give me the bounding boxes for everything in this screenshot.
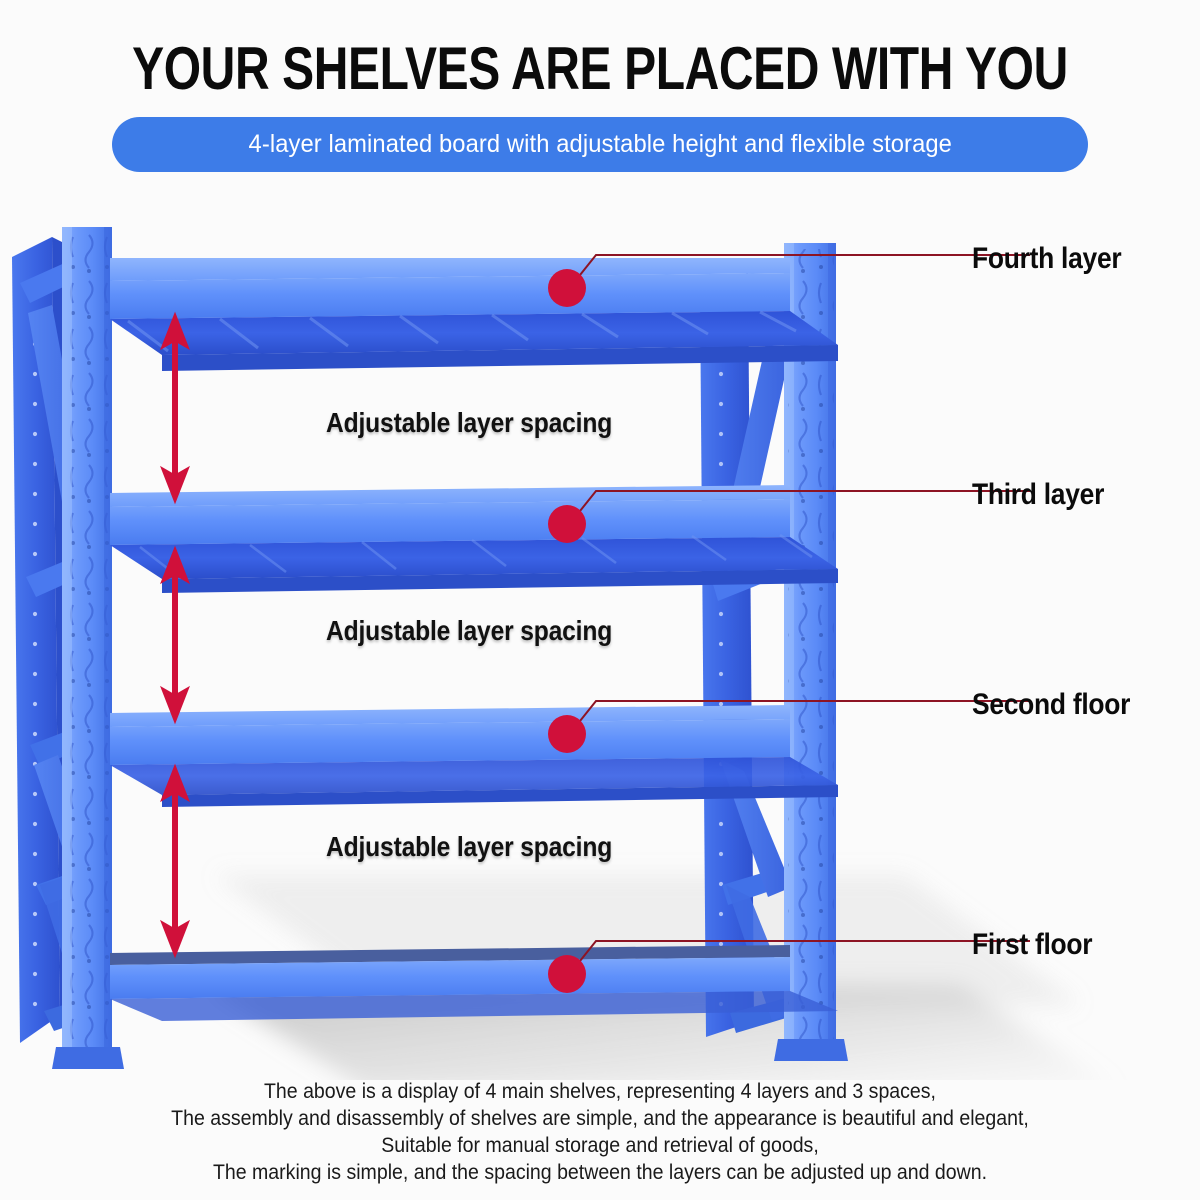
spacing-arrow-2: [161, 547, 189, 723]
callout-label-second-floor: Second floor: [972, 688, 1130, 722]
shelf-beam-first: [110, 945, 838, 1021]
shelf-beam-second: [110, 705, 838, 807]
header: YOUR SHELVES ARE PLACED WITH YOU 4-layer…: [0, 0, 1200, 185]
product-illustration-stage: Fourth layer Third layer Second floor Fi…: [0, 185, 1200, 1080]
subtitle-text: 4-layer laminated board with adjustable …: [248, 130, 951, 159]
subtitle-banner: 4-layer laminated board with adjustable …: [112, 117, 1088, 172]
caption-line-1: The above is a display of 4 main shelves…: [42, 1078, 1158, 1105]
spacing-arrow-3: [161, 765, 189, 957]
caption-line-4: The marking is simple, and the spacing b…: [42, 1159, 1158, 1186]
caption-line-3: Suitable for manual storage and retrieva…: [42, 1132, 1158, 1159]
spacing-label-1: Adjustable layer spacing: [326, 407, 612, 439]
callout-dot-third-layer: [548, 505, 586, 543]
caption-block: The above is a display of 4 main shelves…: [42, 1078, 1158, 1186]
spacing-arrow-1: [161, 313, 189, 503]
shelf-beam-third: [110, 485, 838, 593]
callout-label-third-layer: Third layer: [972, 478, 1104, 512]
spacing-arrows: [161, 313, 189, 957]
callout-dot-second-floor: [548, 715, 586, 753]
spacing-label-3: Adjustable layer spacing: [326, 831, 612, 863]
caption-line-2: The assembly and disassembly of shelves …: [42, 1105, 1158, 1132]
callout-dot-first-floor: [548, 955, 586, 993]
front-left-upright: [52, 227, 124, 1069]
callout-dot-fourth-layer: [548, 269, 586, 307]
spacing-label-2: Adjustable layer spacing: [326, 615, 612, 647]
shelf-beam-fourth: [110, 258, 838, 371]
page-title: YOUR SHELVES ARE PLACED WITH YOU: [120, 38, 1080, 100]
callout-label-first-floor: First floor: [972, 928, 1092, 962]
callout-label-fourth-layer: Fourth layer: [972, 242, 1121, 276]
